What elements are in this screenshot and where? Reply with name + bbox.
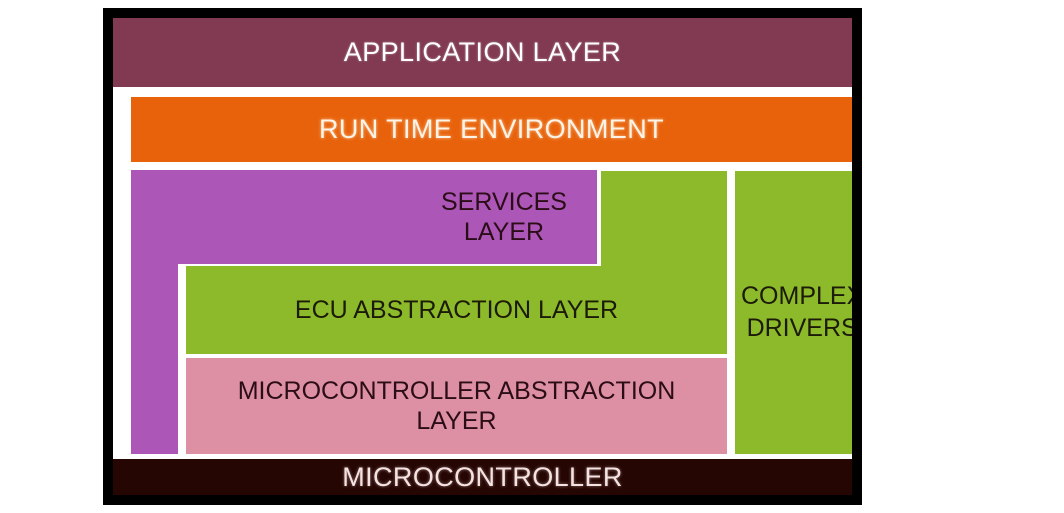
basic-software-purple-left-leg xyxy=(131,262,178,454)
diagram-canvas: APPLICATION LAYER RUN TIME ENVIRONMENT S… xyxy=(0,0,1064,513)
complex-drivers-label: COMPLEX DRIVERS xyxy=(741,281,862,344)
diagram-inner-area: APPLICATION LAYER RUN TIME ENVIRONMENT S… xyxy=(113,18,852,495)
layer-ecu-abstraction: ECU ABSTRACTION LAYER xyxy=(186,266,727,354)
layer-complex-drivers: COMPLEX DRIVERS xyxy=(735,171,852,454)
ecu-abstraction-upper-extension xyxy=(601,171,727,266)
layer-application: APPLICATION LAYER xyxy=(113,18,852,87)
layer-run-time-environment: RUN TIME ENVIRONMENT xyxy=(131,97,852,162)
layer-microcontroller: MICROCONTROLLER xyxy=(113,459,852,495)
layer-microcontroller-abstraction: MICROCONTROLLER ABSTRACTION LAYER xyxy=(186,358,727,454)
layer-services: SERVICES LAYER xyxy=(413,172,595,262)
diagram-frame: APPLICATION LAYER RUN TIME ENVIRONMENT S… xyxy=(103,8,862,505)
basic-software-region: SERVICES LAYER ECU ABSTRACTION LAYER MIC… xyxy=(113,170,852,455)
